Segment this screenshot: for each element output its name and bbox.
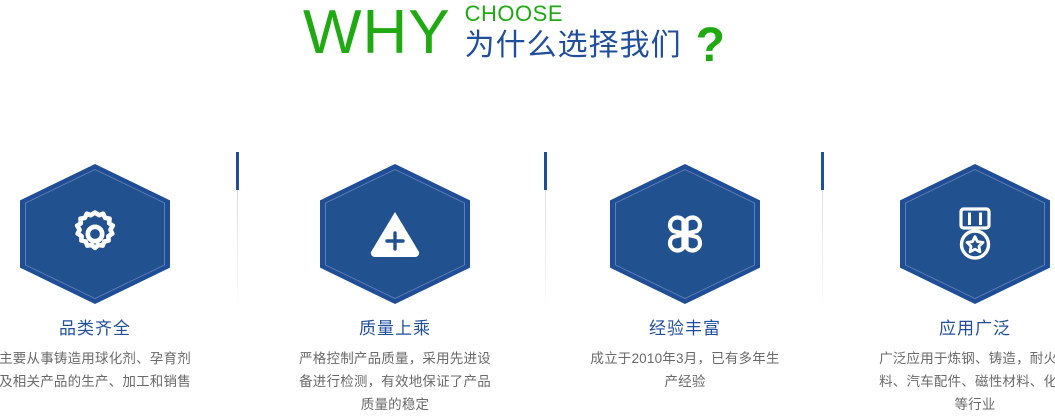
heading-inner: WHY CHOOSE 为什么选择我们 ? xyxy=(303,0,725,70)
divider-tail xyxy=(822,190,823,312)
hexagon-badge xyxy=(610,164,760,304)
heading-choose: CHOOSE xyxy=(465,2,682,26)
feature-card[interactable]: 品类齐全 主要从事铸造用球化剂、孕育剂及相关产品的生产、加工和销售 xyxy=(0,150,195,393)
feature-card[interactable]: 应用广泛 广泛应用于炼钢、铸造，耐火材料、汽车配件、磁性材料、化工等行业 xyxy=(875,150,1055,416)
card-description: 成立于2010年3月，已有多年生产经验 xyxy=(585,347,785,393)
card-title: 经验丰富 xyxy=(585,318,785,340)
card-divider xyxy=(821,152,824,312)
heading-middle-column: CHOOSE 为什么选择我们 xyxy=(465,2,682,64)
triangle-plus-icon xyxy=(320,164,470,304)
hexagon-badge xyxy=(20,164,170,304)
card-divider xyxy=(544,152,547,312)
medal-icon xyxy=(900,164,1050,304)
divider-cap xyxy=(821,152,824,190)
divider-cap xyxy=(236,152,239,190)
hexagon-badge xyxy=(900,164,1050,304)
gear-icon xyxy=(20,164,170,304)
section-heading: WHY CHOOSE 为什么选择我们 ? xyxy=(0,0,1055,95)
divider-tail xyxy=(237,190,238,312)
card-title: 质量上乘 xyxy=(295,318,495,340)
clover-icon xyxy=(610,164,760,304)
heading-question-mark: ? xyxy=(696,22,725,70)
feature-card[interactable]: 经验丰富 成立于2010年3月，已有多年生产经验 xyxy=(585,150,785,393)
card-description: 主要从事铸造用球化剂、孕育剂及相关产品的生产、加工和销售 xyxy=(0,347,195,393)
card-description: 广泛应用于炼钢、铸造，耐火材料、汽车配件、磁性材料、化工等行业 xyxy=(875,347,1055,416)
feature-card[interactable]: 质量上乘 严格控制产品质量，采用先进设备进行检测，有效地保证了产品质量的稳定 xyxy=(295,150,495,416)
heading-subtitle-zh: 为什么选择我们 xyxy=(465,28,682,64)
card-description: 严格控制产品质量，采用先进设备进行检测，有效地保证了产品质量的稳定 xyxy=(295,347,495,416)
card-title: 品类齐全 xyxy=(0,318,195,340)
divider-cap xyxy=(544,152,547,190)
divider-tail xyxy=(545,190,546,312)
hexagon-badge xyxy=(320,164,470,304)
card-title: 应用广泛 xyxy=(875,318,1055,340)
card-divider xyxy=(236,152,239,312)
heading-why: WHY xyxy=(303,2,451,64)
feature-cards-row: 品类齐全 主要从事铸造用球化剂、孕育剂及相关产品的生产、加工和销售 质量上乘 严… xyxy=(0,150,1055,416)
